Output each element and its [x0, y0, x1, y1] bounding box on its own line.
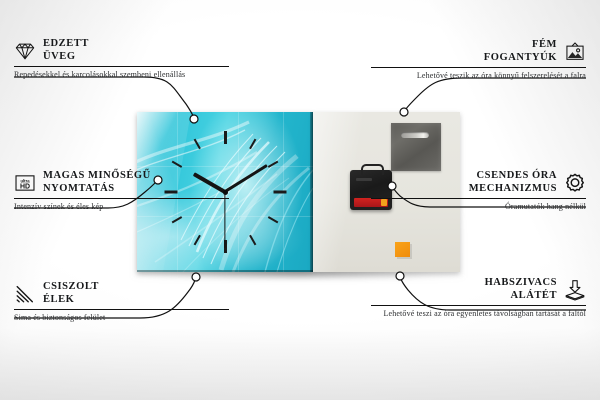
svg-text:HD: HD: [20, 183, 30, 190]
callout-title: EDZETT ÜVEG: [43, 38, 89, 63]
gear-icon: [564, 172, 586, 194]
callout-subtitle: Óramutatók hang nélkül: [371, 202, 586, 212]
callout-csendes-ora-mechanizmus[interactable]: CSENDES ÓRA MECHANIZMUS Óramutatók hang …: [371, 170, 586, 212]
picture-hanger-icon: [564, 41, 586, 63]
callout-title: FÉM FOGANTYÚK: [484, 39, 557, 64]
callout-title: CSENDES ÓRA MECHANIZMUS: [469, 170, 557, 195]
callout-rule: [14, 309, 229, 310]
callout-title: MAGAS MINŐSÉGŰ NYOMTATÁS: [43, 170, 151, 195]
callout-title: HABSZIVACS ALÁTÉT: [485, 277, 557, 302]
callout-subtitle: Lehetővé teszi az óra egyenletes távolsá…: [371, 309, 586, 319]
callout-subtitle: Intenzív színek és éles kép: [14, 202, 229, 212]
callout-edzett-uveg[interactable]: EDZETT ÜVEG Repedésekkel és karcolásokka…: [14, 38, 229, 80]
metal-hanger: [391, 123, 441, 171]
callout-subtitle: Repedésekkel és karcolásokkal szembeni e…: [14, 70, 229, 80]
diamond-icon: [14, 40, 36, 62]
hanger-slot: [401, 132, 429, 138]
callout-title: CSISZOLT ÉLEK: [43, 281, 99, 306]
callout-habszivacs-alatet[interactable]: HABSZIVACS ALÁTÉT Lehetővé teszi az óra …: [371, 277, 586, 319]
callout-rule: [371, 305, 586, 306]
mechanism-detail: [356, 178, 372, 181]
callout-csiszolt-elek[interactable]: CSISZOLT ÉLEK Sima és biztonságos felüle…: [14, 281, 229, 323]
foam-pad-icon: [564, 279, 586, 301]
callout-head: HABSZIVACS ALÁTÉT: [371, 277, 586, 302]
glass-edge-bottom: [137, 270, 313, 272]
callout-subtitle: Lehetővé teszik az óra könnyű felszerelé…: [371, 71, 586, 81]
foam-pad: [395, 242, 410, 257]
callout-fem-fogantyuk[interactable]: FÉM FOGANTYÚK Lehetővé teszik az óra kön…: [371, 39, 586, 81]
callout-magas-minosegu-nyomtatas[interactable]: ultra HD MAGAS MINŐSÉGŰ NYOMTATÁS Intenz…: [14, 170, 229, 212]
callout-rule: [371, 67, 586, 68]
polished-edges-icon: [14, 283, 36, 305]
callout-head: ultra HD MAGAS MINŐSÉGŰ NYOMTATÁS: [14, 170, 229, 195]
callout-head: CSISZOLT ÉLEK: [14, 281, 229, 306]
infographic-canvas: EDZETT ÜVEG Repedésekkel és karcolásokka…: [0, 0, 600, 400]
callout-rule: [14, 66, 229, 67]
callout-head: EDZETT ÜVEG: [14, 38, 229, 63]
callout-head: FÉM FOGANTYÚK: [371, 39, 586, 64]
callout-subtitle: Sima és biztonságos felület: [14, 313, 229, 323]
callout-rule: [371, 198, 586, 199]
callout-head: CSENDES ÓRA MECHANIZMUS: [371, 170, 586, 195]
callout-rule: [14, 198, 229, 199]
ultra-hd-icon: ultra HD: [14, 172, 36, 194]
